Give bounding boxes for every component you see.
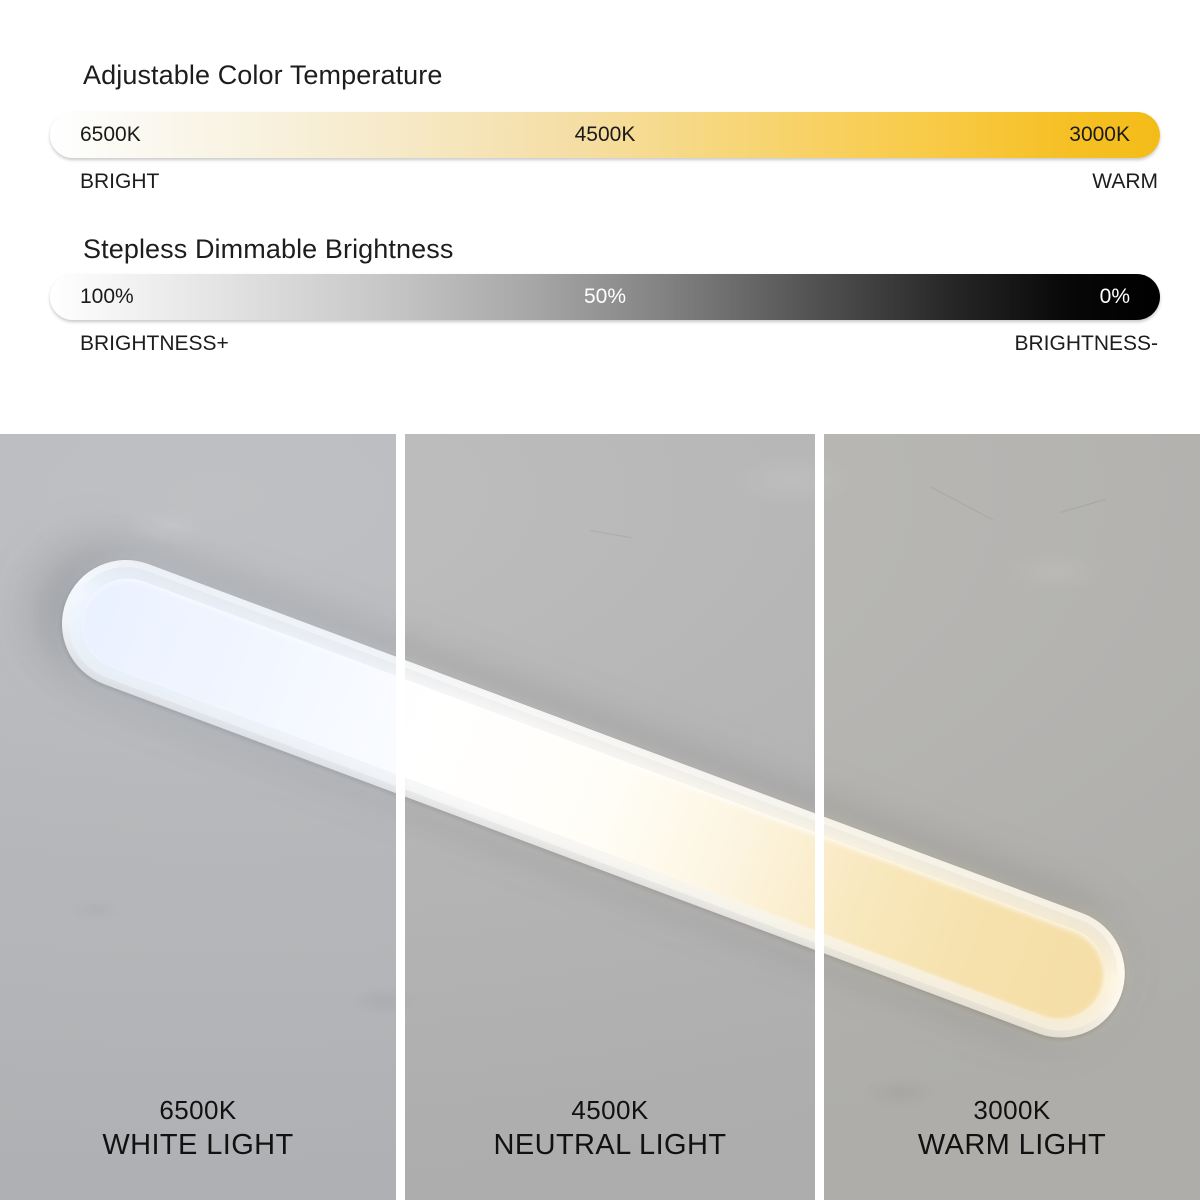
specs-panel: Adjustable Color Temperature 6500K 4500K… (0, 0, 1200, 434)
ceiling-light-photo: 6500K WHITE LIGHT 4500K NEUTRAL LIGHT 30… (0, 434, 1200, 1200)
ceiling-crack (590, 530, 632, 538)
brightness-caption-increase: BRIGHTNESS+ (80, 332, 229, 356)
product-infographic: Adjustable Color Temperature 6500K 4500K… (0, 0, 1200, 1200)
panel-tint-cool (0, 434, 396, 1200)
panel-tint-warm (824, 434, 1200, 1200)
brightness-heading: Stepless Dimmable Brightness (83, 234, 453, 265)
cct-label-4500k: 4500K (575, 112, 636, 158)
panel-divider (396, 434, 405, 1200)
brightness-label-50: 50% (584, 274, 626, 320)
panel-caption-neutral-light: 4500K NEUTRAL LIGHT (405, 1094, 815, 1164)
color-temperature-heading: Adjustable Color Temperature (83, 60, 443, 91)
panel-2-kelvin: 4500K (405, 1094, 815, 1127)
panel-1-kelvin: 6500K (0, 1094, 396, 1127)
panel-3-kelvin: 3000K (824, 1094, 1200, 1127)
panel-3-mode: WARM LIGHT (824, 1127, 1200, 1164)
cct-label-6500k: 6500K (80, 112, 141, 158)
color-temperature-gradient-bar: 6500K 4500K 3000K (50, 112, 1160, 158)
ceiling-crack (1060, 499, 1106, 513)
fixture-diffuser-panel (69, 566, 1118, 1032)
panel-2-mode: NEUTRAL LIGHT (405, 1127, 815, 1164)
cct-label-3000k: 3000K (1069, 112, 1130, 158)
panel-1-mode: WHITE LIGHT (0, 1127, 396, 1164)
ceiling-crack (930, 486, 994, 521)
brightness-caption-decrease: BRIGHTNESS- (1014, 332, 1158, 356)
panel-caption-white-light: 6500K WHITE LIGHT (0, 1094, 396, 1164)
cct-caption-bright: BRIGHT (80, 170, 159, 194)
brightness-label-0: 0% (1100, 274, 1130, 320)
brightness-gradient-bar: 100% 50% 0% (50, 274, 1160, 320)
led-ceiling-light-fixture (44, 542, 1144, 1056)
brightness-label-100: 100% (80, 274, 134, 320)
cct-caption-warm: WARM (1092, 170, 1158, 194)
panel-caption-warm-light: 3000K WARM LIGHT (824, 1094, 1200, 1164)
